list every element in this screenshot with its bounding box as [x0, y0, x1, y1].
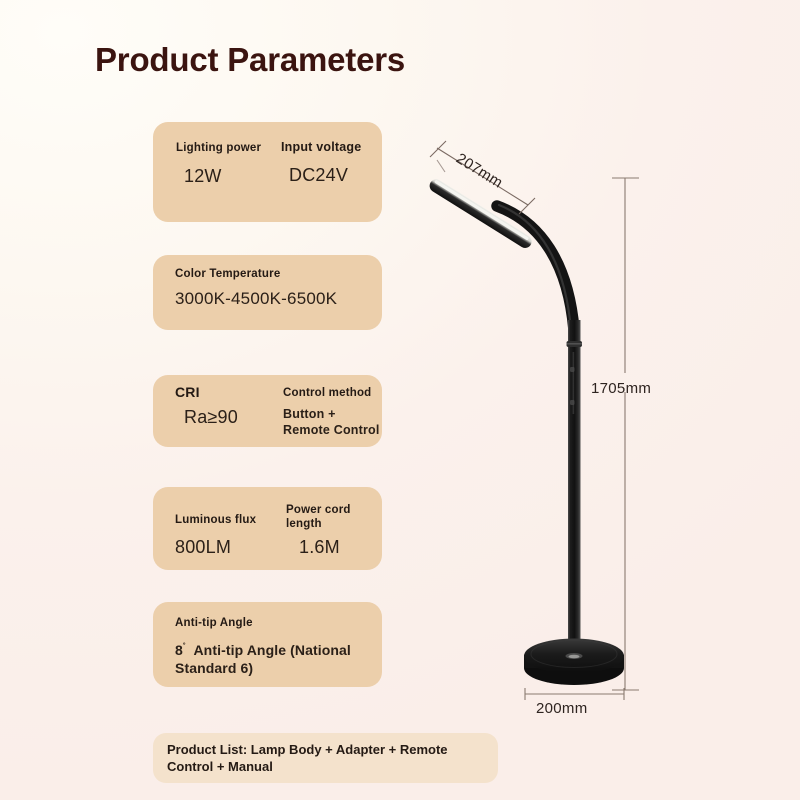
dimension-label-total-height: 1705mm: [591, 380, 651, 397]
product-parameters-page: Product Parameters Lighting power 12W In…: [0, 0, 800, 800]
dimension-line-base-diameter: [525, 688, 624, 700]
dimension-label-base-diameter: 200mm: [536, 700, 588, 717]
floor-lamp-illustration: [0, 0, 800, 800]
dimension-line-total-height: [612, 178, 639, 690]
